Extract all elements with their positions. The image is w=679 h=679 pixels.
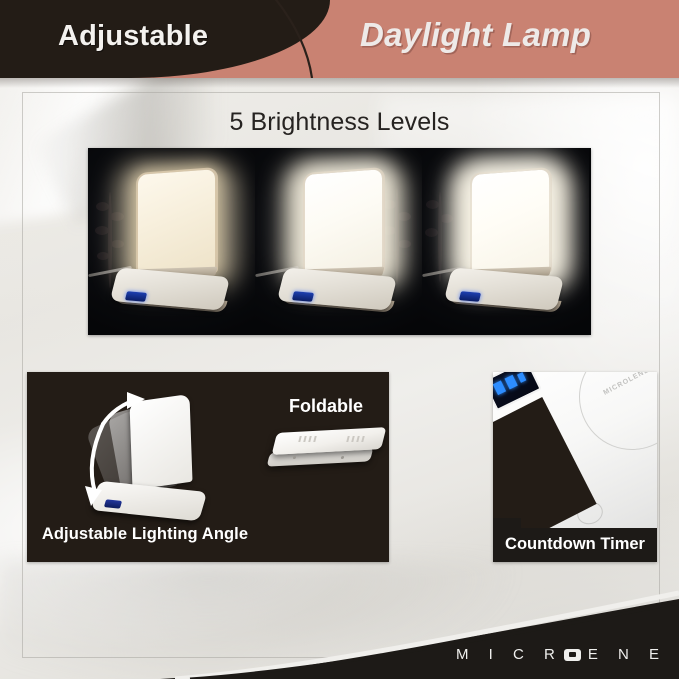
header-drop-shadow: [0, 78, 679, 88]
brand-suffix: E N E: [588, 646, 667, 663]
adjustable-angle-label: Adjustable Lighting Angle: [27, 525, 263, 544]
brand-logo: M I C R E N E: [456, 646, 667, 663]
light-panel: [470, 167, 552, 279]
light-panel: [136, 167, 218, 279]
header-right-title: Daylight Lamp: [360, 16, 591, 54]
label-notch: [493, 518, 521, 528]
foldable-illustration: [269, 430, 387, 492]
brand-prefix: M I C R: [456, 646, 563, 663]
lamp-level-medium: [277, 170, 405, 320]
countdown-timer-label: Countdown Timer: [493, 535, 657, 554]
lamp-base: [114, 266, 226, 314]
lamp-photo-cell-low: [88, 148, 255, 335]
display-screen: [292, 291, 314, 302]
lamp-level-high: [444, 170, 572, 320]
infographic-page: Adjustable Daylight Lamp 5 Brightness Le…: [0, 0, 679, 679]
header-divider-arc: [250, 0, 370, 78]
countdown-timer-panel: MICROLENE Countdown Timer: [493, 372, 657, 562]
lamp-photo-cell-medium: [255, 148, 422, 335]
rotation-arrow-icon: [65, 390, 255, 520]
footer-band: M I C R E N E: [0, 569, 679, 679]
light-panel: [303, 167, 385, 279]
display-screen: [125, 291, 147, 302]
foldable-label: Foldable: [263, 396, 389, 417]
lamp-level-low: [110, 170, 238, 320]
header-banner: Adjustable Daylight Lamp: [0, 0, 679, 78]
lamp-photo-cell-high: [422, 148, 589, 335]
brightness-levels-photo-strip: [88, 148, 591, 335]
adjustable-angle-illustration: [65, 390, 255, 520]
countdown-timer-label-bar: Countdown Timer: [493, 528, 657, 562]
adjustable-angle-panel: Foldable Adjustable Lighting Angle: [27, 372, 389, 562]
rounded-rect-mark-icon: [564, 649, 581, 661]
lamp-base: [281, 266, 393, 314]
lamp-base: [448, 266, 560, 314]
page-title: 5 Brightness Levels: [0, 108, 679, 137]
header-left-title: Adjustable: [58, 20, 208, 53]
display-screen: [459, 291, 481, 302]
